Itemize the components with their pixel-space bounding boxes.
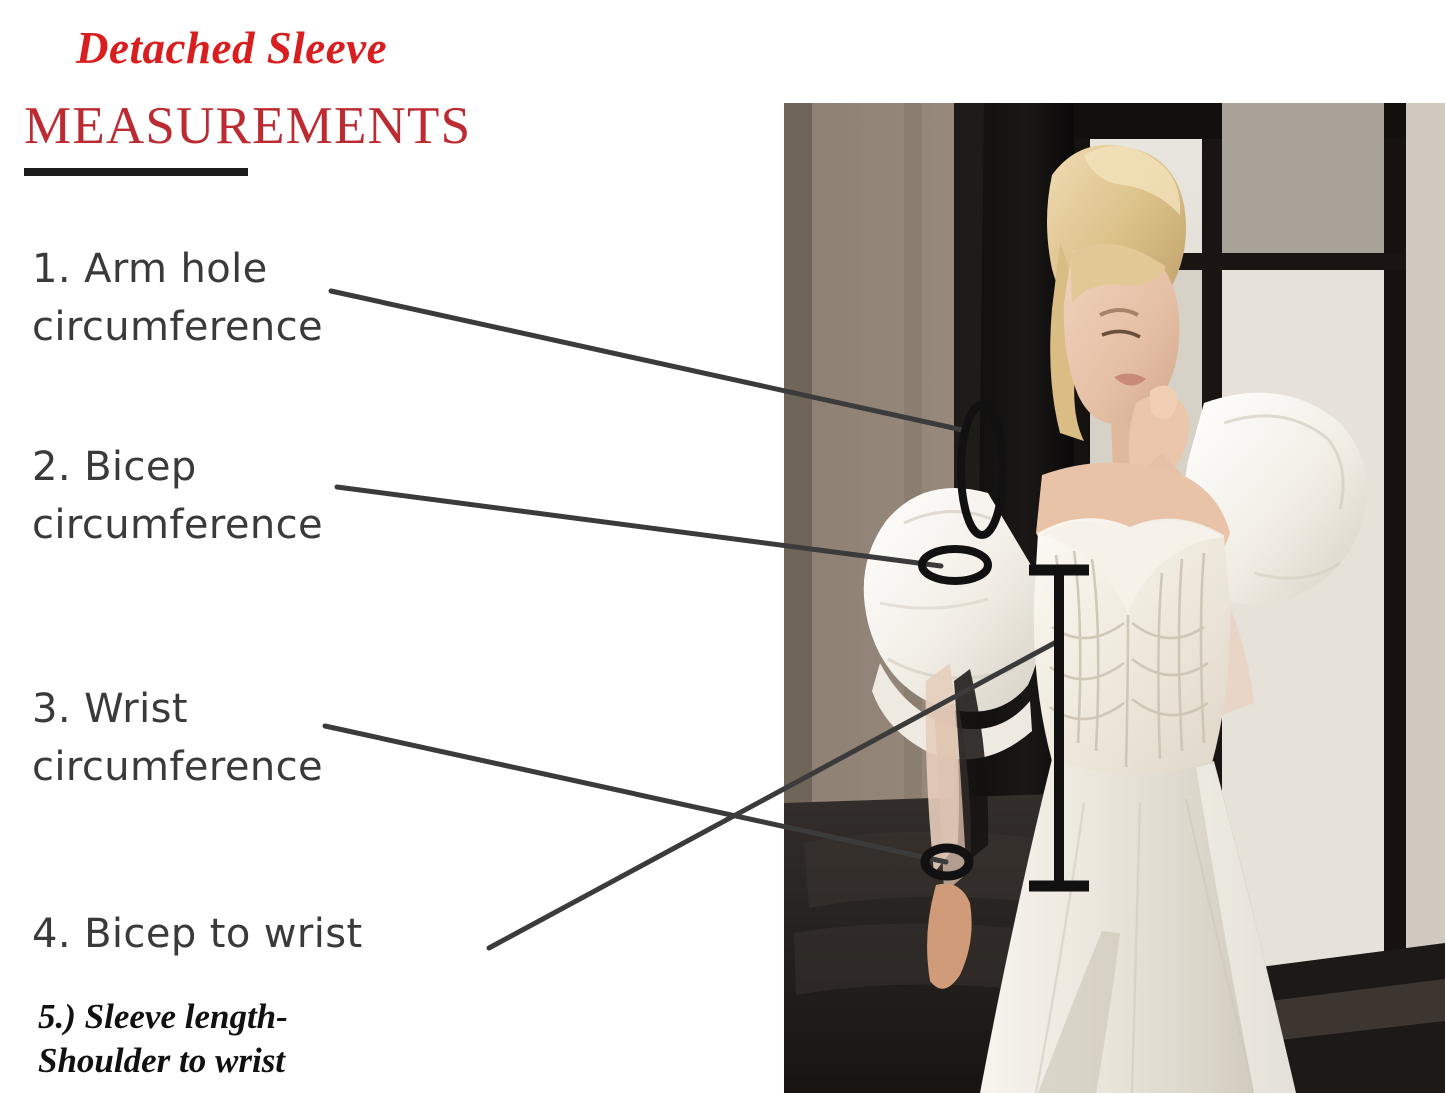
measurement-item-4-bicep-to-wrist: 4. Bicep to wrist: [32, 905, 363, 963]
page-title-detached-sleeve: Detached Sleeve: [76, 22, 387, 74]
measurement-guide-page: Detached Sleeve MEASUREMENTS: [0, 0, 1445, 1093]
measurement-item-1-arm-hole: 1. Arm hole circumference: [32, 240, 323, 356]
title-underline-rule: [24, 168, 248, 176]
page-title-measurements: MEASUREMENTS: [24, 96, 471, 156]
measurement-item-2-bicep: 2. Bicep circumference: [32, 438, 323, 554]
measurement-item-5-sleeve-length: 5.) Sleeve length- Shoulder to wrist: [38, 995, 288, 1083]
model-photo: [784, 103, 1445, 1093]
measurement-item-3-wrist: 3. Wrist circumference: [32, 680, 323, 796]
model-photo-illustration: [784, 103, 1445, 1093]
